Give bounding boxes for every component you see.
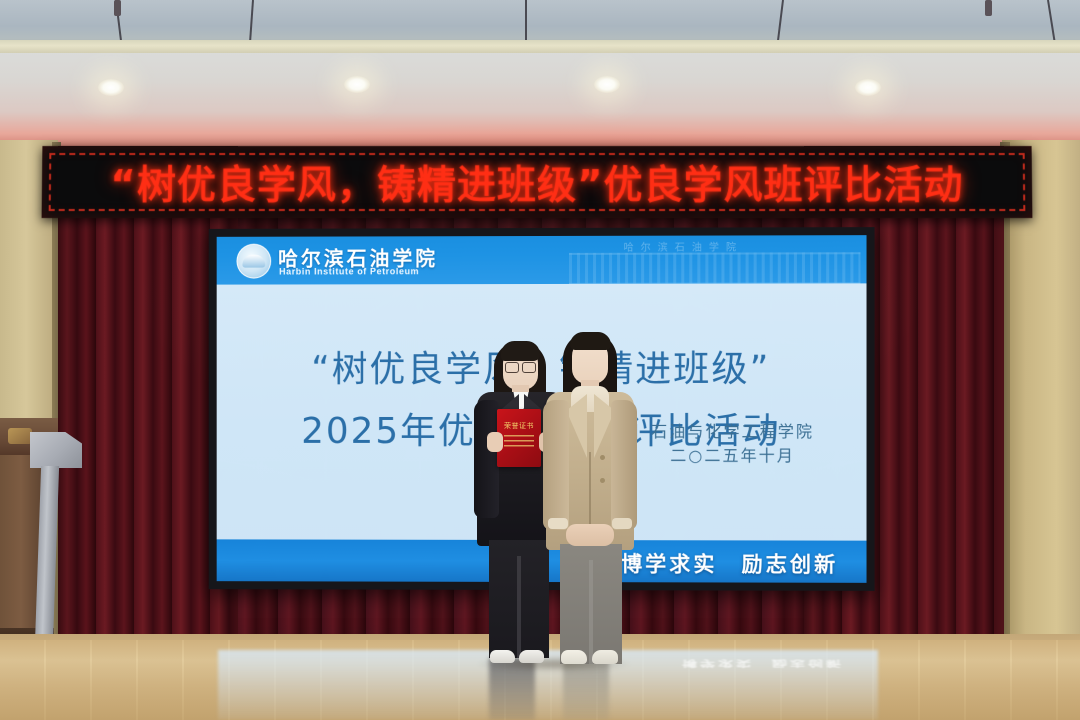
ceiling-panel — [0, 53, 1080, 148]
ceiling-rod — [525, 0, 527, 44]
arm-left — [474, 400, 499, 518]
slide-header: 哈尔滨石油学院 Harbin Institute of Petroleum 哈尔… — [217, 235, 867, 284]
hair-fringe — [501, 341, 540, 361]
certificate-title: 荣誉证书 — [497, 421, 541, 431]
floor-reflection-motto: 博学求实 励志创新 — [682, 658, 844, 670]
slide-organizer-block: 石油与化学工程学院 二○二五年十月 — [651, 420, 814, 468]
ceiling-hanger-bracket — [985, 0, 992, 16]
shoe-right — [519, 650, 544, 663]
slide-school-name-en: Harbin Institute of Petroleum — [279, 266, 419, 276]
school-seal-icon — [236, 244, 271, 279]
trouser-leg-seam — [517, 556, 521, 658]
trouser-leg-seam — [589, 560, 593, 664]
led-banner-text: “树优良学风，铸精进班级”优良学风班评比活动 — [42, 146, 1033, 218]
ceiling-downlight-icon — [344, 76, 370, 93]
clasped-hands — [566, 524, 614, 546]
sleeve-cuff-left — [548, 518, 568, 529]
hair-fringe — [570, 332, 611, 350]
lectern-crest-icon — [8, 428, 32, 444]
slide-date: 二○二五年十月 — [651, 444, 814, 468]
ceiling-soffit-beam — [0, 40, 1080, 54]
led-banner: “树优良学风，铸精进班级”优良学风班评比活动 — [42, 146, 1033, 218]
slide-organizer: 石油与化学工程学院 — [651, 420, 814, 444]
building-illustration-icon — [569, 252, 860, 284]
slide-motto: 博学求实 励志创新 — [621, 548, 838, 579]
wall-panel-right — [1002, 140, 1080, 710]
auditorium-scene: “树优良学风，铸精进班级”优良学风班评比活动 哈尔滨石油学院 Harbin In… — [0, 0, 1080, 720]
blazer-button — [600, 478, 605, 483]
shoe-right — [592, 650, 618, 664]
hand-left — [487, 432, 503, 452]
certificate-inscription-lines — [504, 435, 534, 447]
sleeve-cuff-right — [612, 518, 632, 529]
arm-right — [611, 400, 637, 530]
shoe-left — [490, 650, 515, 663]
ceiling-downlight-icon — [855, 79, 881, 96]
slide-building-watermark: 哈尔滨石油学院 — [569, 237, 860, 284]
arm-left — [543, 400, 569, 530]
glasses-icon — [505, 362, 536, 371]
ceiling-hanger-bracket — [114, 0, 121, 16]
ceiling-upper-recess — [0, 0, 1080, 44]
ceiling-downlight-icon — [594, 76, 620, 93]
award-certificate: 荣誉证书 — [497, 409, 541, 467]
ceiling-downlight-icon — [98, 79, 124, 96]
blazer-button — [600, 455, 605, 460]
shoe-left — [561, 650, 587, 664]
